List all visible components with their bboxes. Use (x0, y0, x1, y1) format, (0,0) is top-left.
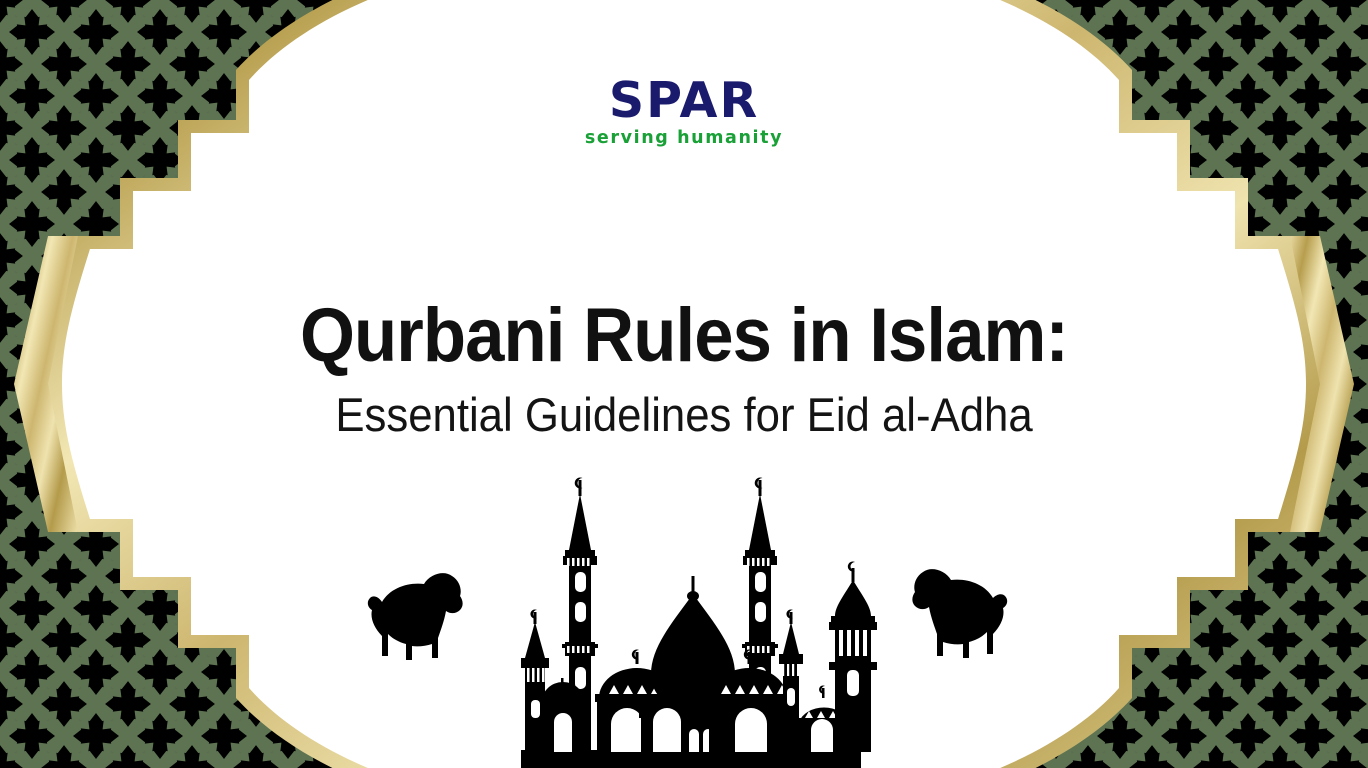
logo-tagline: serving humanity (0, 130, 1368, 148)
headline-block: Qurbani Rules in Islam: Essential Guidel… (0, 296, 1368, 440)
poster-canvas: SPAR serving humanity Qurbani Rules in I… (0, 0, 1368, 768)
page-subtitle: Essential Guidelines for Eid al-Adha (48, 389, 1320, 441)
mosque-silhouette-icon (499, 472, 883, 768)
spar-logo: SPAR serving humanity (0, 76, 1368, 148)
page-title: Qurbani Rules in Islam: (48, 296, 1320, 377)
sheep-silhouette-left-icon (364, 566, 476, 672)
logo-wordmark: SPAR (0, 76, 1368, 125)
sheep-silhouette-right-icon (899, 560, 1011, 670)
